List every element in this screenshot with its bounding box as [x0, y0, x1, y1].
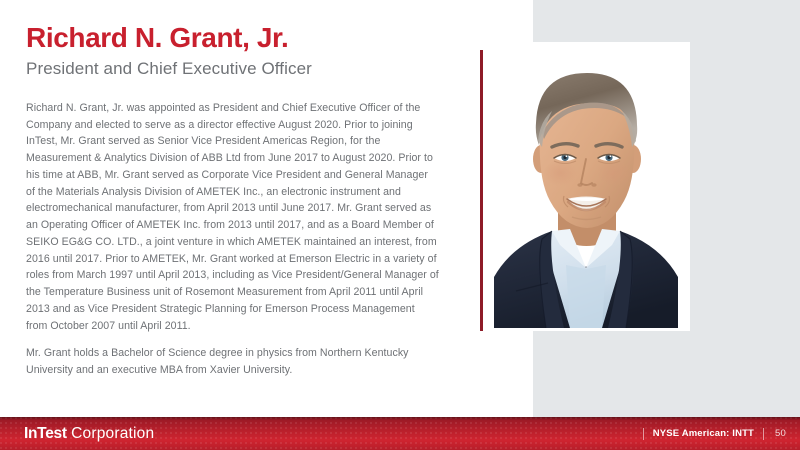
logo-word: Corporation: [71, 425, 154, 442]
logo-mark: InTest: [24, 425, 67, 442]
page-title: Richard N. Grant, Jr.: [26, 22, 446, 53]
slide: Richard N. Grant, Jr. President and Chie…: [0, 0, 800, 450]
footer-divider-right: [763, 428, 764, 440]
company-logo: InTest Corporation: [24, 425, 154, 443]
red-accent-bar: [480, 50, 483, 331]
bio-paragraph-1: Richard N. Grant, Jr. was appointed as P…: [26, 100, 439, 334]
footer-bar: InTest Corporation NYSE American: INTT 5…: [0, 417, 800, 450]
bio-paragraph-2: Mr. Grant holds a Bachelor of Science de…: [26, 345, 439, 378]
footer-meta: NYSE American: INTT 50: [643, 428, 786, 440]
footer-top-edge: [0, 417, 800, 420]
page-number: 50: [773, 428, 786, 439]
executive-headshot-photo: [486, 55, 686, 328]
headline-block: Richard N. Grant, Jr. President and Chie…: [26, 22, 446, 80]
stock-ticker: NYSE American: INTT: [653, 428, 754, 439]
biography-text: Richard N. Grant, Jr. was appointed as P…: [26, 100, 439, 379]
page-subtitle: President and Chief Executive Officer: [26, 59, 446, 79]
footer-divider-left: [643, 428, 644, 440]
